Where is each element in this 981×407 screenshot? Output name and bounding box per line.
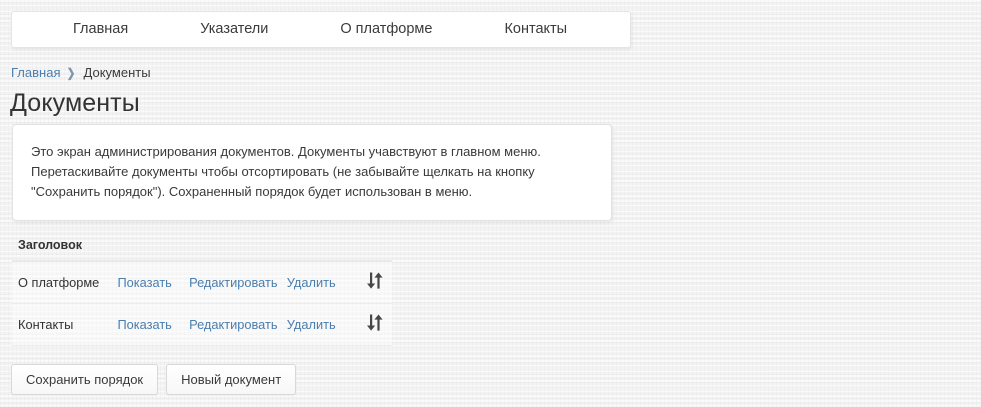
info-text-line-1: Это экран администрирования документов. … [31,142,593,162]
info-text-line-2: Перетаскивайте документы чтобы отсортиро… [31,162,593,182]
nav-item-contacts[interactable]: Контакты [498,12,573,47]
cell-edit: Редактировать [189,304,287,346]
chevron-right-icon: ❯ [67,65,76,81]
table-row[interactable]: О платформе Показать Редактировать Удали… [12,261,392,304]
sort-updown-icon[interactable] [364,313,385,332]
breadcrumb: Главная ❯ Документы [11,65,151,81]
edit-link[interactable]: Редактировать [189,275,277,290]
cell-sort-handle [357,304,392,346]
document-title: Контакты [12,304,117,346]
cell-show: Показать [117,261,189,304]
new-document-button[interactable]: Новый документ [166,364,296,395]
nav-item-indexes[interactable]: Указатели [194,12,274,47]
breadcrumb-link-home[interactable]: Главная [11,65,60,81]
info-text-line-3: "Сохранить порядок"). Сохраненный порядо… [31,182,593,202]
column-header-title: Заголовок [12,235,392,261]
cell-show: Показать [117,304,189,346]
info-panel: Это экран администрирования документов. … [12,124,612,221]
save-order-button[interactable]: Сохранить порядок [11,364,158,395]
documents-table-head: Заголовок [12,235,392,261]
cell-sort-handle [357,261,392,304]
show-link[interactable]: Показать [117,317,171,332]
edit-link[interactable]: Редактировать [189,317,277,332]
sort-updown-icon[interactable] [364,271,385,290]
action-button-row: Сохранить порядок Новый документ [11,364,296,395]
cell-delete: Удалить [287,261,358,304]
documents-table-body: О платформе Показать Редактировать Удали… [12,261,392,346]
breadcrumb-current: Документы [84,65,151,81]
nav-item-about[interactable]: О платформе [334,12,438,47]
show-link[interactable]: Показать [117,275,171,290]
document-title: О платформе [12,261,117,304]
page-title: Документы [10,88,140,118]
cell-delete: Удалить [287,304,358,346]
documents-table: Заголовок О платформе Показать Редактиро… [12,235,392,346]
delete-link[interactable]: Удалить [287,275,336,290]
cell-edit: Редактировать [189,261,287,304]
main-navigation-bar: Главная Указатели О платформе Контакты [11,11,631,48]
table-header-row: Заголовок [12,235,392,261]
table-row[interactable]: Контакты Показать Редактировать Удалить [12,304,392,346]
delete-link[interactable]: Удалить [287,317,336,332]
nav-item-home[interactable]: Главная [67,12,134,47]
